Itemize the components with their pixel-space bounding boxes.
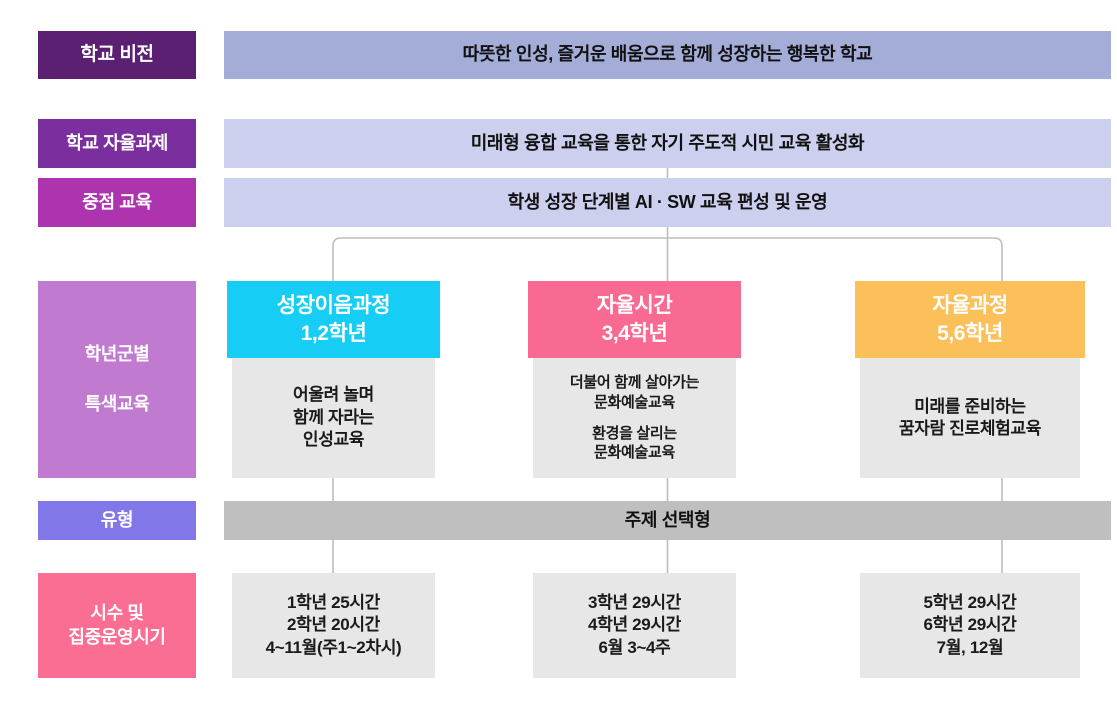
column3-head-line1: 자율과정 — [932, 292, 1008, 320]
column-header-growth-linkage-course: 성장이음과정 1,2학년 — [227, 281, 440, 358]
label-hours-and-intensive-period: 시수 및 집중운영시기 — [38, 573, 196, 678]
column1-head-line1: 성장이음과정 — [277, 292, 390, 320]
column2-feature-box: 더불어 함께 살아가는문화예술교육 환경을 살리는문화예술교육 — [533, 358, 736, 478]
label-autonomous-task: 학교 자율과제 — [38, 119, 196, 168]
column1-feature-1: 어울려 놀며함께 자라는인성교육 — [293, 384, 374, 451]
column1-feature-box: 어울려 놀며함께 자라는인성교육 — [232, 358, 435, 478]
banner-type: 주제 선택형 — [224, 501, 1111, 540]
column2-feature-2: 환경을 살리는문화예술교육 — [592, 424, 677, 464]
label-type: 유형 — [38, 501, 196, 540]
hours-label-line2: 집중운영시기 — [68, 626, 165, 650]
column2-head-line2: 3,4학년 — [602, 320, 668, 348]
banner-focus-education: 학생 성장 단계별 AI · SW 교육 편성 및 운영 — [224, 178, 1111, 227]
column3-hours-text: 5학년 29시간6학년 29시간7월, 12월 — [924, 592, 1017, 659]
banner-school-vision: 따뜻한 인성, 즐거운 배움으로 함께 성장하는 행복한 학교 — [224, 31, 1111, 79]
curriculum-diagram: 학교 비전 따뜻한 인성, 즐거운 배움으로 함께 성장하는 행복한 학교 학교… — [0, 0, 1117, 725]
grade-group-label-line1: 학년군별 — [85, 343, 150, 367]
column-header-autonomous-course: 자율과정 5,6학년 — [855, 281, 1085, 358]
column2-hours-box: 3학년 29시간4학년 29시간6월 3~4주 — [533, 573, 736, 678]
column3-hours-box: 5학년 29시간6학년 29시간7월, 12월 — [860, 573, 1080, 678]
column1-hours-text: 1학년 25시간2학년 20시간4~11월(주1~2차시) — [266, 592, 402, 659]
label-school-vision: 학교 비전 — [38, 31, 196, 79]
column2-hours-text: 3학년 29시간4학년 29시간6월 3~4주 — [588, 592, 681, 659]
banner-autonomous-task: 미래형 융합 교육을 통한 자기 주도적 시민 교육 활성화 — [224, 119, 1111, 168]
column3-head-line2: 5,6학년 — [937, 320, 1003, 348]
column2-head-line1: 자율시간 — [597, 292, 673, 320]
column2-feature-1: 더불어 함께 살아가는문화예술교육 — [570, 373, 699, 413]
column1-head-line2: 1,2학년 — [301, 320, 367, 348]
grade-group-label-line2: 특색교육 — [85, 393, 150, 417]
hours-label-line1: 시수 및 — [90, 602, 143, 626]
column3-feature-1: 미래를 준비하는꿈자람 진로체험교육 — [899, 396, 1041, 441]
column-header-autonomous-time: 자율시간 3,4학년 — [528, 281, 741, 358]
column3-feature-box: 미래를 준비하는꿈자람 진로체험교육 — [860, 358, 1080, 478]
label-focus-education: 중점 교육 — [38, 178, 196, 227]
label-grade-group-special-education: 학년군별 특색교육 — [38, 281, 196, 478]
column1-hours-box: 1학년 25시간2학년 20시간4~11월(주1~2차시) — [232, 573, 435, 678]
